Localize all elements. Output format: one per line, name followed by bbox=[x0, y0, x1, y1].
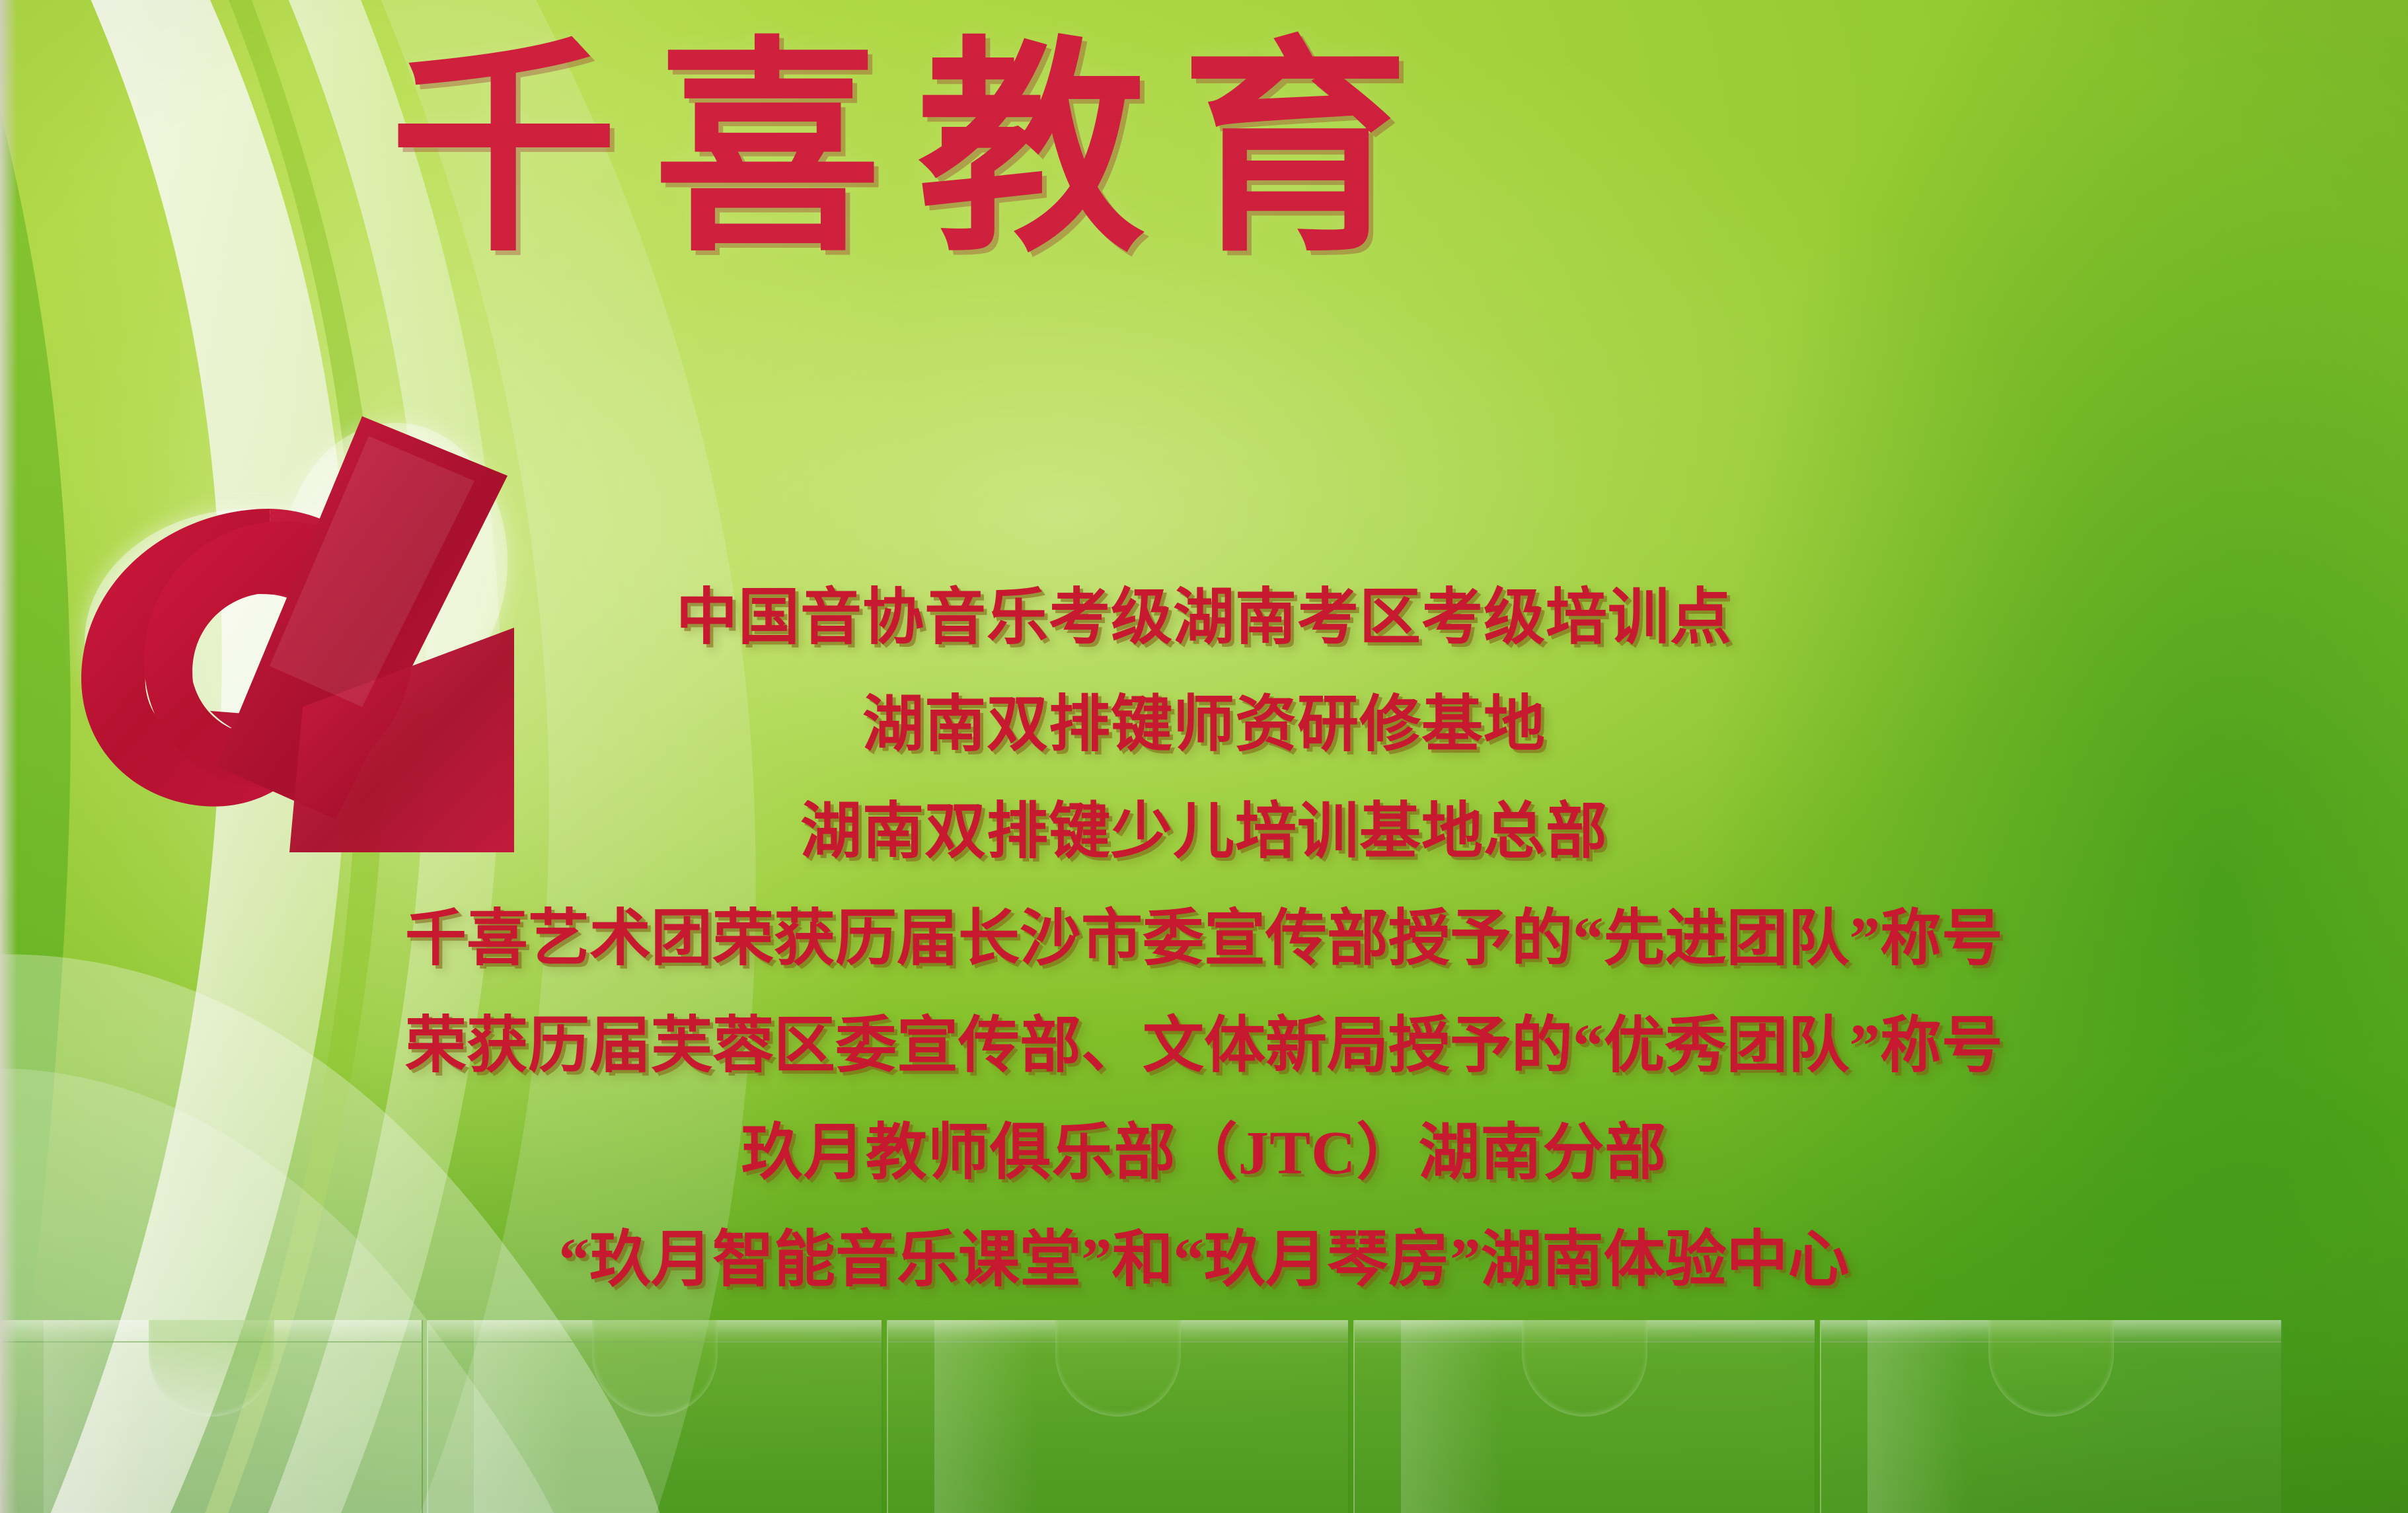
credential-line: “玖月智能音乐课堂”和“玖月琴房”湖南体验中心 bbox=[0, 1224, 2408, 1298]
signboard-photo: 千喜教育 中国音协音乐考级湖南考区考级培训点 湖南双排键师资研修基地 湖南双排键… bbox=[0, 0, 2408, 1513]
wall-edge bbox=[0, 0, 17, 1513]
holder-sheen bbox=[474, 1320, 574, 1513]
holder-notch bbox=[1055, 1320, 1181, 1417]
holder-sheen bbox=[934, 1320, 1035, 1513]
credential-line: 湖南双排键少儿培训基地总部 bbox=[0, 795, 2408, 869]
credential-line: 千喜艺术团荣获历届长沙市委宣传部授予的“先进团队”称号 bbox=[0, 903, 2408, 977]
holder-sheen bbox=[1867, 1320, 1969, 1513]
credential-line: 中国音协音乐考级湖南考区考级培训点 bbox=[0, 581, 2408, 655]
holder-sheen bbox=[1401, 1320, 1502, 1513]
holder-notch bbox=[1522, 1320, 1647, 1417]
page-title: 千喜教育 bbox=[390, 36, 2174, 269]
credential-line: 荣获历届芙蓉区委宣传部、文体新局授予的“优秀团队”称号 bbox=[0, 1010, 2408, 1084]
brochure-holder[interactable] bbox=[1820, 1320, 2282, 1513]
holder-notch bbox=[592, 1320, 718, 1417]
brochure-holder[interactable] bbox=[1353, 1320, 1816, 1513]
holder-notch bbox=[1988, 1320, 2114, 1417]
holder-sheen bbox=[44, 1320, 136, 1513]
brochure-holder-row bbox=[0, 1302, 2408, 1513]
credential-line: 玖月教师俱乐部（JTC）湖南分部 bbox=[0, 1117, 2408, 1191]
holder-notch bbox=[149, 1320, 274, 1417]
brochure-holder[interactable] bbox=[0, 1320, 423, 1513]
brochure-holder[interactable] bbox=[427, 1320, 883, 1513]
brochure-holder[interactable] bbox=[887, 1320, 1349, 1513]
credential-line: 湖南双排键师资研修基地 bbox=[0, 688, 2408, 762]
credential-list: 中国音协音乐考级湖南考区考级培训点 湖南双排键师资研修基地 湖南双排键少儿培训基… bbox=[0, 581, 2408, 1298]
